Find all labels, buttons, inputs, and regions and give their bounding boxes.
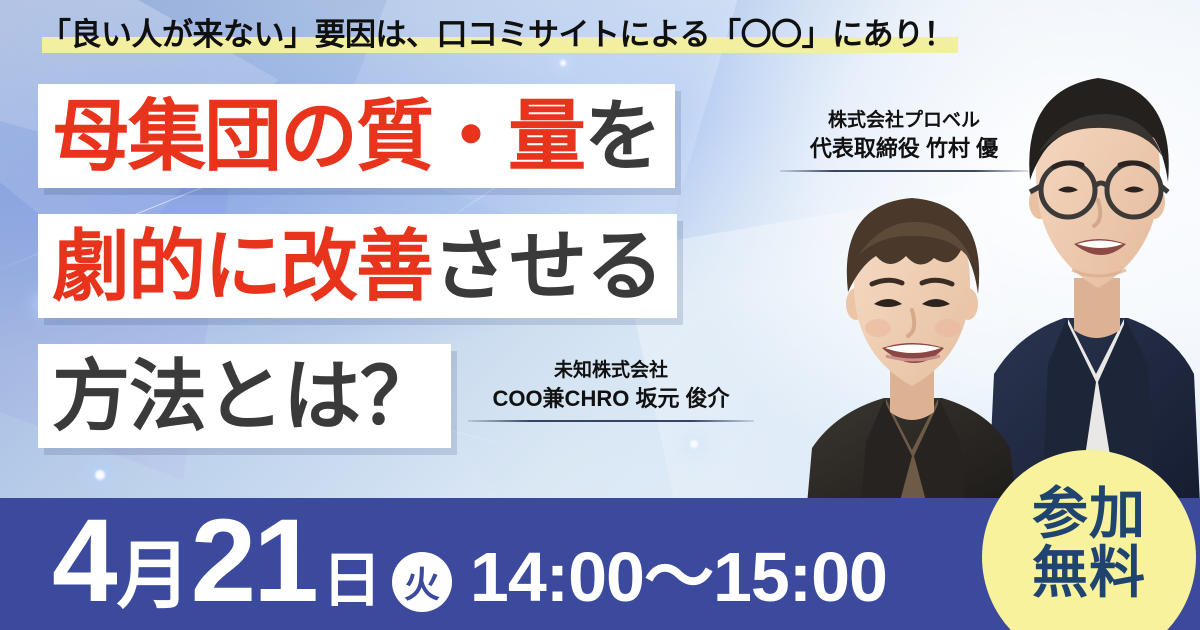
title-line-3: 方法とは？: [38, 344, 451, 448]
speaker-caption-takemura: 株式会社プロベル 代表取締役 竹村 優: [780, 108, 1028, 172]
speaker-org: 株式会社プロベル: [780, 108, 1028, 134]
title-line-2-dark: させる: [432, 227, 663, 305]
speaker-org: 未知株式会社: [468, 358, 754, 384]
title-line-1: 母集団の質・量 を: [38, 84, 675, 188]
headline-text: 「良い人が来ない」要因は、口コミサイトによる「〇〇」にあり！: [40, 17, 954, 52]
title-line-2-red: 劇的に改善: [52, 227, 432, 305]
badge-line-2: 無料: [1032, 543, 1146, 602]
speaker-name: COO兼CHRO 坂元 俊介: [468, 384, 754, 414]
title-line-1-dark: を: [584, 97, 661, 175]
date-day-number: 21: [191, 510, 316, 614]
date-time-group: 4 月 21 日 火 14:00〜15:00: [0, 470, 1060, 630]
speaker-caption-sakamoto: 未知株式会社 COO兼CHRO 坂元 俊介: [468, 358, 754, 422]
date-day-kanji: 日: [322, 554, 382, 608]
speaker-name: 代表取締役 竹村 優: [780, 134, 1028, 164]
title-line-2: 劇的に改善 させる: [38, 214, 677, 318]
speaker-photo-sakamoto: [802, 186, 1022, 516]
title-line-3-dark: 方法とは？: [52, 357, 437, 435]
badge-line-1: 参加: [1032, 484, 1146, 543]
speaker-underline: [468, 420, 754, 422]
date-month-kanji: 月: [117, 543, 189, 610]
headline: 「良い人が来ない」要因は、口コミサイトによる「〇〇」にあり！: [40, 16, 954, 55]
date-line: 4 月 21 日 火 14:00〜15:00: [52, 510, 887, 630]
date-day-of-week-badge: 火: [392, 552, 452, 612]
date-month-number: 4: [52, 510, 115, 614]
webinar-banner: 「良い人が来ない」要因は、口コミサイトによる「〇〇」にあり！ 母集団の質・量 を…: [0, 0, 1200, 630]
title-line-1-red: 母集団の質・量: [52, 97, 584, 175]
speaker-underline: [780, 170, 1028, 172]
background-light-dot: [560, 60, 566, 66]
event-time: 14:00〜15:00: [470, 546, 887, 609]
